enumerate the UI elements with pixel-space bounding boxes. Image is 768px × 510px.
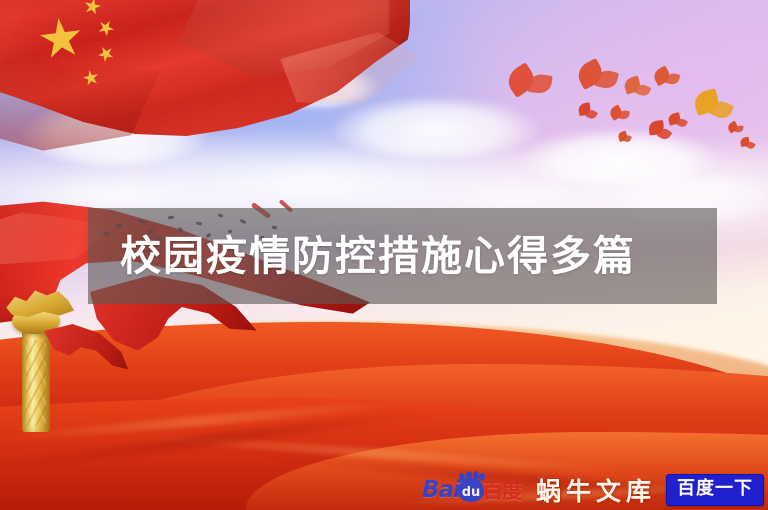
baidu-logo: Bai du 百度 bbox=[422, 475, 522, 505]
bird-icon-4 bbox=[653, 67, 680, 89]
bird-icon-5 bbox=[692, 89, 734, 122]
bird-icon-7 bbox=[609, 105, 631, 123]
bird-icon-3 bbox=[623, 77, 651, 99]
chinese-flag bbox=[0, 0, 410, 182]
pillar-carving bbox=[26, 340, 46, 426]
baidu-search-button[interactable]: 百度一下 bbox=[666, 474, 764, 506]
title-band: 校园疫情防控措施心得多篇 bbox=[88, 208, 717, 304]
watermark-bar: Bai du 百度 蜗牛文库 百度一下 bbox=[422, 470, 768, 510]
bird-icon-2 bbox=[577, 61, 619, 94]
golden-huabiao-column bbox=[8, 286, 68, 432]
brand-name: 蜗牛文库 bbox=[536, 472, 656, 508]
baidu-logo-du-text: du bbox=[462, 486, 481, 502]
baidu-paw-icon: du bbox=[458, 478, 484, 502]
banner-image: 校园疫情防控措施心得多篇 Bai du 百度 蜗牛文库 百度一下 bbox=[0, 0, 768, 510]
baidu-logo-chinese-text: 百度 bbox=[482, 475, 522, 505]
bird-icon-12 bbox=[618, 132, 633, 144]
baidu-logo-bai-text: Bai bbox=[422, 477, 460, 503]
page-title: 校园疫情防控措施心得多篇 bbox=[120, 236, 636, 277]
